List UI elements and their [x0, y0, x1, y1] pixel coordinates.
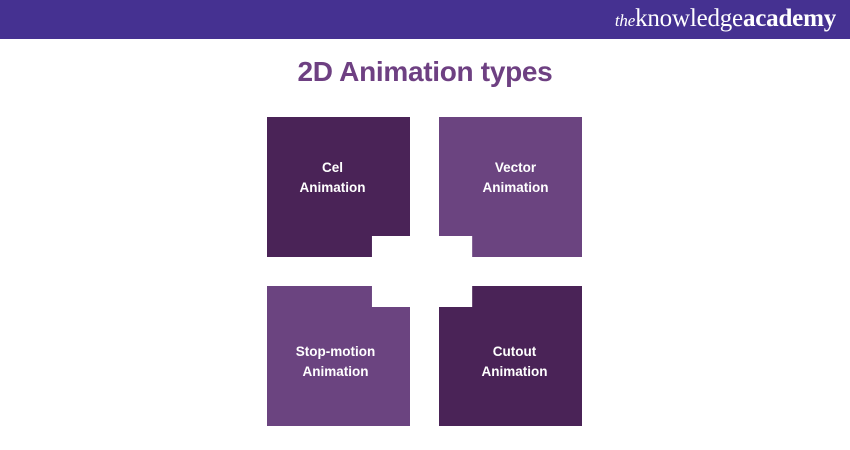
header-bar: theknowledgeacademy	[0, 0, 850, 36]
header-underline	[0, 36, 850, 39]
animation-types-diagram: Cel Animation Vector Animation Stop-moti…	[267, 117, 581, 426]
logo-knowledge-text: knowledge	[635, 6, 743, 31]
diagram-piece-vector-animation[interactable]: Vector Animation	[439, 117, 582, 257]
diagram-piece-label: Stop-motion Animation	[296, 328, 381, 383]
diagram-piece-label: Cel Animation	[300, 158, 378, 215]
diagram-piece-stop-motion-animation[interactable]: Stop-motion Animation	[267, 286, 410, 426]
diagram-piece-cel-animation[interactable]: Cel Animation	[267, 117, 410, 257]
diagram-piece-label: Vector Animation	[473, 158, 549, 215]
diagram-piece-label: Cutout Animation	[474, 328, 548, 383]
page-title: 2D Animation types	[0, 56, 850, 88]
logo-the-text: the	[615, 12, 635, 29]
brand-logo[interactable]: theknowledgeacademy	[615, 6, 836, 31]
logo-academy-text: academy	[743, 6, 836, 31]
diagram-piece-cutout-animation[interactable]: Cutout Animation	[439, 286, 582, 426]
